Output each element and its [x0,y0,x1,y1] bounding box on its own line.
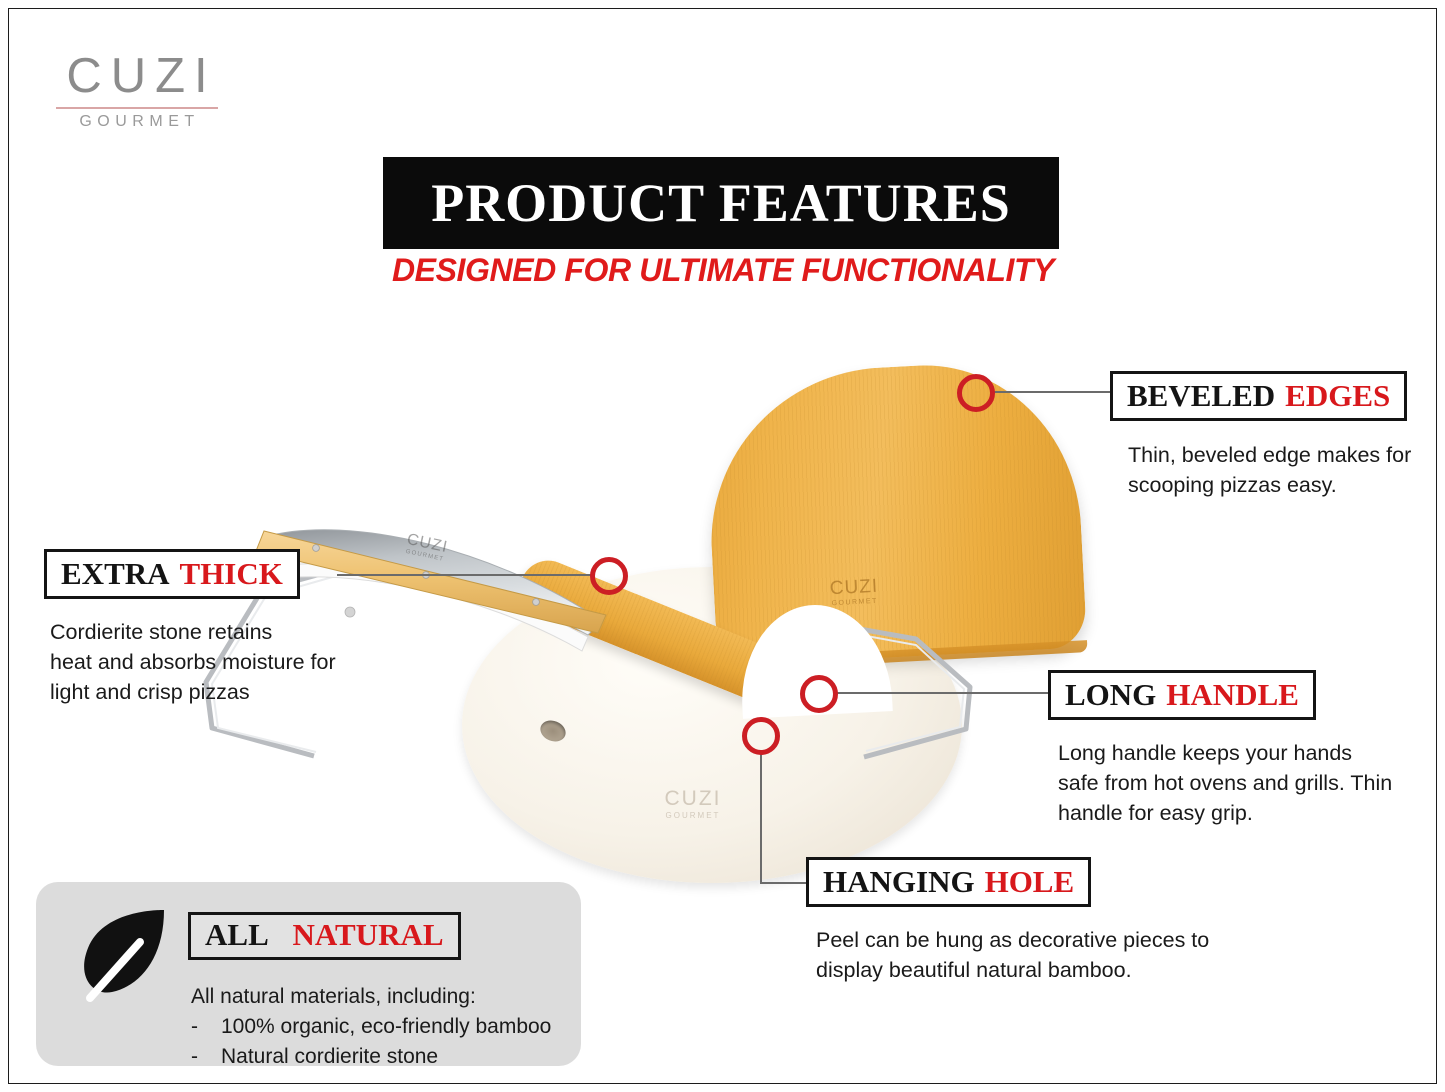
all-natural-title-red: NATURAL [293,917,444,952]
page-subtitle: DESIGNED FOR ULTIMATE FUNCTIONALITY [363,252,1083,289]
callout-title-red-3: HOLE [985,864,1075,900]
callout-body-line: light and crisp pizzas [50,677,380,707]
callout-body-line: scooping pizzas easy. [1128,470,1438,500]
callout-body-line: Thin, beveled edge makes for [1128,440,1438,470]
callout-body-long-handle: Long handle keeps your hands safe from h… [1058,738,1428,828]
callout-title-long-handle: LONG HANDLE [1048,670,1316,720]
bullet-text: Natural cordierite stone [221,1042,438,1072]
callout-body-line: Peel can be hung as decorative pieces to [816,925,1266,955]
stone-engraving-name: CUZI [665,787,722,810]
all-natural-title: ALL NATURAL [188,912,461,960]
leader-line-hanging-hole-vertical [760,752,762,884]
header-banner: PRODUCT FEATURES [383,157,1059,249]
callout-title-red-0: EDGES [1285,378,1390,414]
callout-title-black-2: LONG [1065,677,1156,713]
callout-body-line: handle for easy grip. [1058,798,1428,828]
product-photo: CUZI GOURMET CUZI GOURMET [240,355,1180,915]
bullet-text: 100% organic, eco-friendly bamboo [221,1012,551,1042]
list-item: - 100% organic, eco-friendly bamboo [191,1012,551,1042]
stone-engraving: CUZI GOURMET [638,787,748,820]
leader-line-extra-thick [337,574,592,576]
callout-body-line: heat and absorbs moisture for [50,647,380,677]
callout-body-line: safe from hot ovens and grills. Thin [1058,768,1428,798]
callout-body-line: Cordierite stone retains [50,617,380,647]
leader-line-long-handle [836,692,1052,694]
callout-title-hanging-hole: HANGING HOLE [806,857,1091,907]
callout-title-black-0: BEVELED [1127,378,1275,414]
brand-logo: CUZI GOURMET [52,52,222,131]
brand-tagline: GOURMET [52,113,222,131]
bullet-dash: - [191,1042,221,1072]
bullet-dash: - [191,1012,221,1042]
leader-line-beveled-edges [993,391,1117,393]
callout-body-beveled-edges: Thin, beveled edge makes for scooping pi… [1128,440,1438,500]
callout-body-line: Long handle keeps your hands [1058,738,1428,768]
callout-body-line: display beautiful natural bamboo. [816,955,1266,985]
all-natural-panel: ALL NATURAL All natural materials, inclu… [36,882,581,1066]
peel-engraving-name: CUZI [829,576,878,600]
list-item: - Natural cordierite stone [191,1042,551,1072]
brand-divider [56,107,218,109]
callout-body-hanging-hole: Peel can be hung as decorative pieces to… [816,925,1266,985]
callout-title-red-2: HANDLE [1166,677,1299,713]
marker-beveled-edges [957,374,995,412]
page-title: PRODUCT FEATURES [431,172,1011,234]
callout-title-black-1: EXTRA [61,556,170,592]
callout-title-red-1: THICK [180,556,283,592]
callout-title-beveled-edges: BEVELED EDGES [1110,371,1407,421]
marker-hanging-hole [742,717,780,755]
callout-title-black-3: HANGING [823,864,975,900]
infographic-page: CUZI GOURMET PRODUCT FEATURES DESIGNED F… [0,0,1445,1092]
callout-title-extra-thick: EXTRA THICK [44,549,300,599]
all-natural-intro: All natural materials, including: [191,982,551,1012]
brand-name: CUZI [52,52,222,101]
marker-extra-thick [590,557,628,595]
callout-body-extra-thick: Cordierite stone retains heat and absorb… [50,617,380,707]
peel-engraving: CUZI GOURMET [829,576,879,607]
leader-line-hanging-hole-horizontal [760,882,810,884]
marker-long-handle [800,675,838,713]
all-natural-body: All natural materials, including: - 100%… [191,982,551,1072]
stone-engraving-tagline: GOURMET [638,811,748,820]
leaf-icon [78,906,170,1011]
all-natural-title-black: ALL [205,917,267,952]
